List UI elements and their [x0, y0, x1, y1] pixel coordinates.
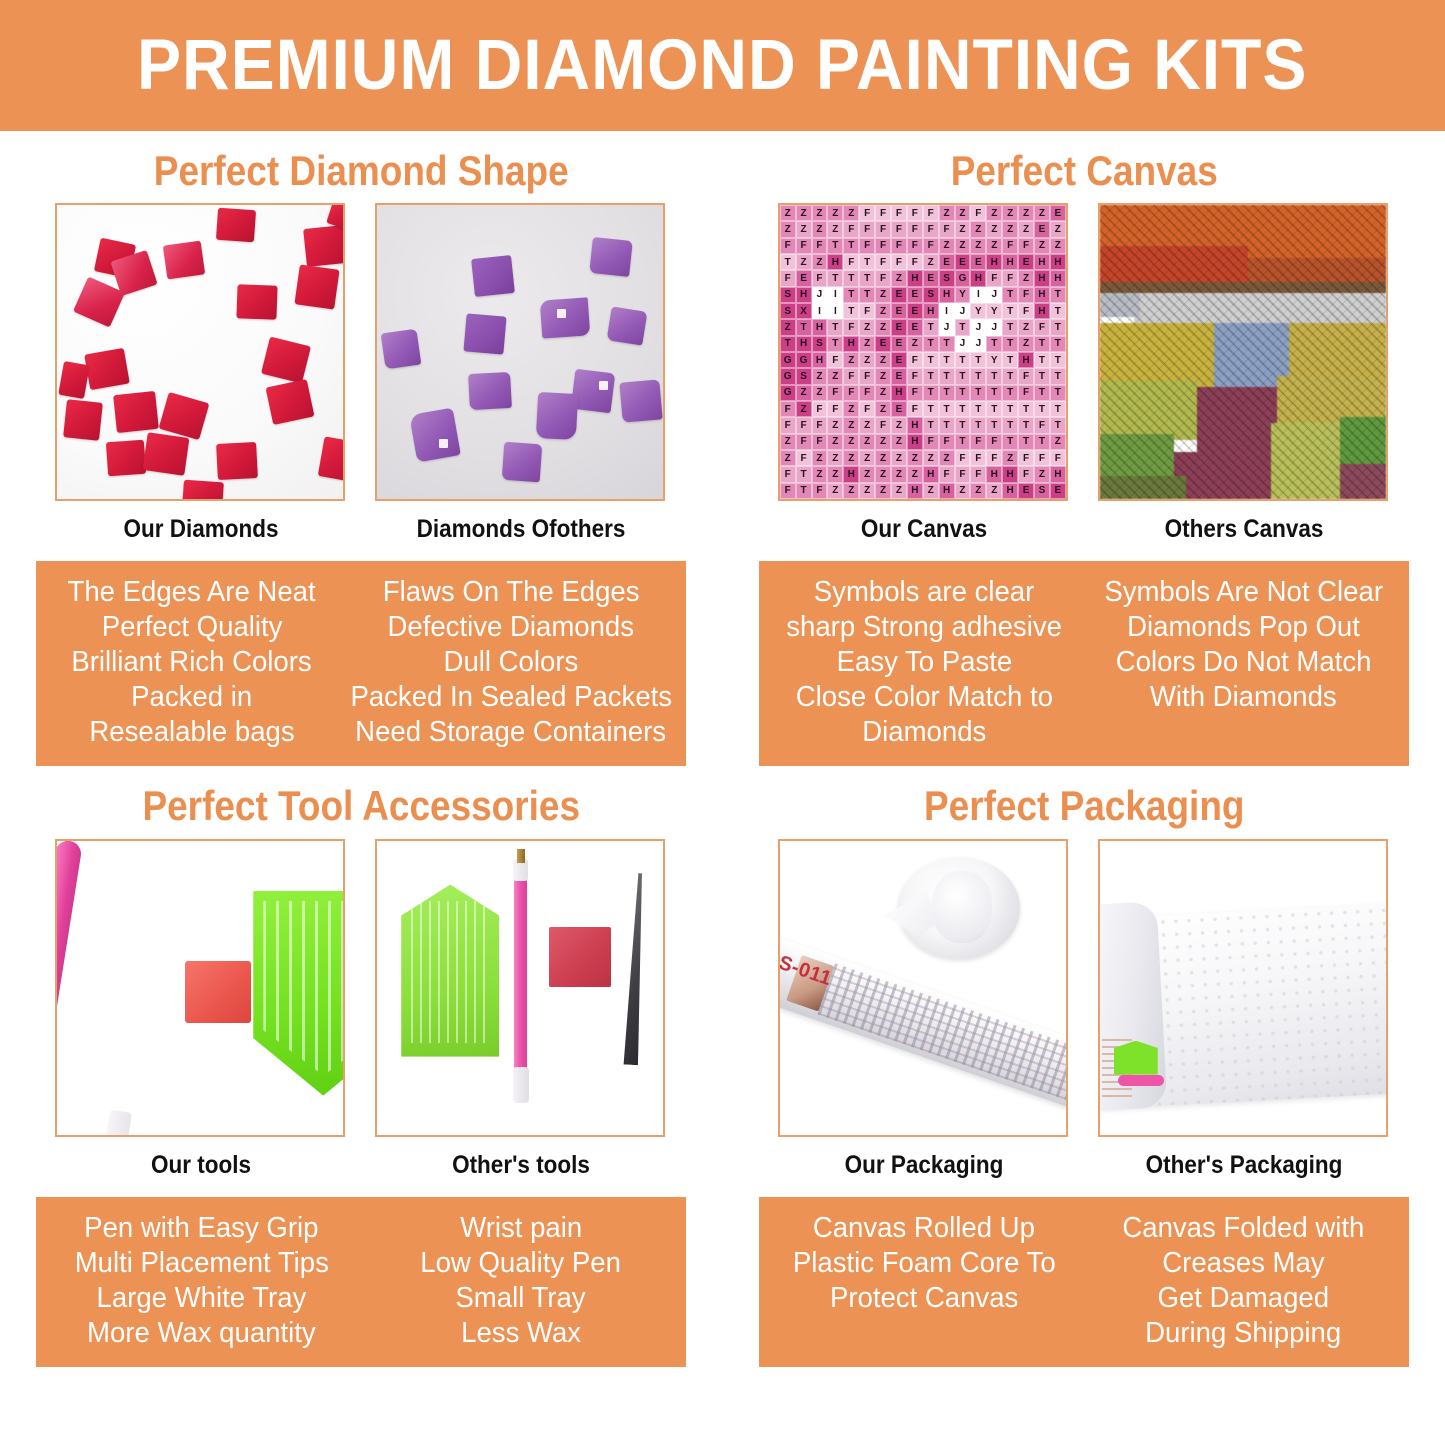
canvas-symbol-cell: T: [1050, 385, 1066, 401]
canvas-symbol-cell: S: [939, 270, 955, 286]
canvas-symbol-cell: Z: [812, 450, 828, 466]
section-row-top: Perfect Diamond Shape: [0, 131, 1445, 766]
canvas-symbol-cell: H: [1034, 270, 1050, 286]
diamond-drill: [607, 306, 648, 345]
bullets-ours: Canvas Rolled Up Plastic Foam Core To Pr…: [765, 1211, 1084, 1351]
canvas-symbol-cell: H: [1050, 254, 1066, 270]
canvas-symbol-cell: F: [1034, 450, 1050, 466]
canvas-symbol-cell: Z: [843, 417, 859, 433]
canvas-symbol-cell: Z: [986, 238, 1002, 254]
canvas-symbol-cell: Z: [907, 450, 923, 466]
canvas-symbol-cell: H: [907, 483, 923, 499]
tube-label-code: SS-011: [778, 947, 835, 991]
photo-block-others-tools: Other's tools: [375, 839, 667, 1180]
bullet-line: Close Color Match to: [796, 680, 1053, 715]
canvas-symbol-cell: Z: [907, 466, 923, 482]
photo-block-our-diamonds: Our Diamonds: [55, 203, 347, 544]
diamond-facet-highlight: [557, 309, 566, 318]
canvas-symbol-cell: I: [970, 287, 986, 303]
canvas-symbol-cell: Z: [843, 483, 859, 499]
canvas-symbol-cell: T: [955, 434, 971, 450]
canvas-symbol-cell: E: [796, 270, 812, 286]
canvas-symbol-cell: E: [970, 254, 986, 270]
canvas-symbol-cell: T: [1018, 434, 1034, 450]
diamond-drill: [237, 284, 278, 319]
bullet-line: Creases May: [1162, 1246, 1324, 1281]
canvas-symbol-cell: I: [812, 303, 828, 319]
caption-others-packaging: Other's Packaging: [1112, 1151, 1375, 1180]
canvas-symbol-cell: Z: [1002, 450, 1018, 466]
canvas-symbol-cell: F: [1034, 319, 1050, 335]
canvas-symbol-cell: F: [812, 434, 828, 450]
canvas-symbol-cell: F: [907, 352, 923, 368]
bullet-line: More Wax quantity: [87, 1316, 316, 1351]
canvas-symbol-cell: T: [1018, 401, 1034, 417]
canvas-symbol-cell: F: [859, 368, 875, 384]
canvas-symbol-cell: E: [1018, 254, 1034, 270]
canvas-symbol-cell: I: [827, 287, 843, 303]
canvas-symbol-cell: F: [796, 434, 812, 450]
drill-pen-icon: [55, 839, 83, 1108]
drill-pen-icon: [514, 875, 527, 1080]
bullet-line: Multi Placement Tips: [75, 1246, 329, 1281]
canvas-symbol-cell: E: [891, 319, 907, 335]
bullets-ours: Symbols are clear sharp Strong adhesive …: [765, 575, 1084, 750]
canvas-symbol-cell: Z: [986, 205, 1002, 221]
canvas-symbol-cell: Z: [827, 417, 843, 433]
canvas-symbol-cell: Z: [939, 450, 955, 466]
canvas-symbol-cell: Z: [1018, 221, 1034, 237]
canvas-symbol-cell: F: [907, 254, 923, 270]
canvas-symbol-cell: H: [812, 352, 828, 368]
diamond-drill: [163, 241, 205, 280]
canvas-symbol-cell: T: [1002, 352, 1018, 368]
canvas-symbol-cell: F: [939, 434, 955, 450]
diamond-drill: [303, 225, 345, 267]
canvas-symbol-cell: T: [859, 254, 875, 270]
canvas-symbol-grid: ZZZZZFFFFFZZFZZZZEZZZZFFFFFFFZZZZZEZFFFT…: [780, 205, 1066, 499]
canvas-symbol-cell: F: [843, 368, 859, 384]
canvas-symbol-cell: Z: [891, 450, 907, 466]
canvas-symbol-cell: F: [827, 352, 843, 368]
caption-our-tools: Our tools: [70, 1151, 333, 1180]
bullet-line: Small Tray: [456, 1281, 586, 1316]
bullet-line: Colors Do Not Match: [1115, 645, 1371, 680]
canvas-symbol-cell: T: [970, 401, 986, 417]
canvas-symbol-cell: F: [780, 401, 796, 417]
canvas-symbol-cell: H: [1002, 483, 1018, 499]
canvas-symbol-cell: E: [923, 270, 939, 286]
diamond-drill: [409, 408, 461, 463]
bullets-ours: Pen with Easy Grip Multi Placement Tips …: [42, 1211, 361, 1351]
section-title-tools: Perfect Tool Accessories: [43, 784, 679, 828]
canvas-symbol-cell: Z: [812, 205, 828, 221]
canvas-symbol-cell: F: [1002, 270, 1018, 286]
canvas-symbol-cell: T: [955, 368, 971, 384]
canvas-symbol-cell: Z: [843, 401, 859, 417]
canvas-symbol-cell: Y: [970, 303, 986, 319]
canvas-symbol-cell: Z: [796, 401, 812, 417]
canvas-symbol-cell: F: [812, 270, 828, 286]
pen-grip: [104, 1109, 132, 1136]
canvas-symbol-cell: H: [843, 466, 859, 482]
diamond-drill: [471, 255, 515, 297]
canvas-symbol-cell: H: [1002, 254, 1018, 270]
section-packaging: Perfect Packaging SS-011 Our Packaging: [723, 766, 1445, 1366]
canvas-symbol-cell: Z: [859, 483, 875, 499]
canvas-symbol-cell: T: [939, 352, 955, 368]
canvas-symbol-cell: T: [1050, 319, 1066, 335]
canvas-symbol-cell: T: [955, 385, 971, 401]
bullet-line: Pen with Easy Grip: [85, 1211, 319, 1246]
canvas-symbol-cell: Y: [986, 352, 1002, 368]
canvas-symbol-cell: Z: [1018, 205, 1034, 221]
diamond-drill: [216, 208, 256, 243]
bullet-line: Flaws On The Edges: [383, 575, 640, 610]
canvas-symbol-cell: Z: [859, 417, 875, 433]
canvas-symbol-cell: T: [955, 417, 971, 433]
canvas-symbol-cell: T: [796, 466, 812, 482]
canvas-symbol-cell: T: [1034, 336, 1050, 352]
bullet-line: sharp Strong adhesive: [786, 610, 1062, 645]
canvas-symbol-cell: H: [986, 466, 1002, 482]
photo-block-our-tools: Our tools: [55, 839, 347, 1180]
canvas-symbol-cell: H: [907, 270, 923, 286]
canvas-symbol-cell: F: [1018, 466, 1034, 482]
bullet-line: Need Storage Containers: [356, 715, 667, 750]
diamond-facet-highlight: [439, 439, 448, 448]
bullet-line: During Shipping: [1145, 1316, 1341, 1351]
canvas-symbol-cell: T: [923, 319, 939, 335]
canvas-symbol-cell: F: [859, 238, 875, 254]
canvas-symbol-cell: H: [1050, 270, 1066, 286]
canvas-symbol-cell: Z: [970, 221, 986, 237]
canvas-symbol-cell: J: [955, 303, 971, 319]
bullet-line: Canvas Rolled Up: [813, 1211, 1035, 1246]
canvas-symbol-cell: Z: [875, 466, 891, 482]
canvas-symbol-cell: T: [939, 385, 955, 401]
canvas-symbol-cell: Z: [780, 221, 796, 237]
canvas-symbol-cell: Z: [923, 254, 939, 270]
canvas-symbol-cell: X: [796, 303, 812, 319]
bullet-line: Packed In Sealed Packets: [350, 680, 672, 715]
bullets-others: Canvas Folded with Creases May Get Damag…: [1084, 1211, 1403, 1351]
canvas-symbol-cell: G: [796, 352, 812, 368]
canvas-symbol-cell: F: [859, 385, 875, 401]
canvas-symbol-cell: F: [891, 205, 907, 221]
bullet-line: Wrist pain: [460, 1211, 582, 1246]
canvas-symbol-cell: T: [1002, 401, 1018, 417]
canvas-symbol-cell: H: [1034, 303, 1050, 319]
canvas-symbol-cell: Z: [780, 319, 796, 335]
canvas-symbol-cell: T: [827, 336, 843, 352]
bullet-line: Get Damaged: [1157, 1281, 1329, 1316]
diamond-drill: [295, 265, 340, 310]
section-title-packaging: Perfect Packaging: [766, 784, 1402, 828]
canvas-symbol-cell: H: [1034, 287, 1050, 303]
caption-others-canvas: Others Canvas: [1112, 515, 1375, 544]
canvas-symbol-cell: T: [1002, 385, 1018, 401]
section-diamond-shape: Perfect Diamond Shape: [0, 131, 723, 766]
canvas-symbol-cell: H: [843, 336, 859, 352]
diamond-drill: [536, 392, 578, 440]
canvas-symbol-cell: F: [843, 319, 859, 335]
canvas-symbol-cell: T: [1018, 417, 1034, 433]
caption-our-canvas: Our Canvas: [792, 515, 1055, 544]
canvas-symbol-cell: Z: [796, 385, 812, 401]
diamond-drill: [182, 480, 224, 501]
canvas-symbol-cell: T: [955, 319, 971, 335]
page-header: PREMIUM DIAMOND PAINTING KITS: [0, 0, 1445, 131]
photo-pair-packaging: SS-011 Our Packaging: [723, 839, 1445, 1180]
canvas-symbol-cell: T: [923, 385, 939, 401]
canvas-symbol-cell: T: [923, 336, 939, 352]
canvas-symbol-cell: H: [907, 434, 923, 450]
canvas-symbol-cell: F: [907, 368, 923, 384]
canvas-symbol-cell: Z: [780, 205, 796, 221]
canvas-symbol-cell: F: [970, 450, 986, 466]
bullet-line: Diamonds: [862, 715, 986, 750]
canvas-symbol-cell: F: [843, 254, 859, 270]
bullet-line: With Diamonds: [1150, 680, 1337, 715]
canvas-symbol-cell: T: [1050, 352, 1066, 368]
canvas-symbol-cell: F: [812, 417, 828, 433]
bullets-canvas: Symbols are clear sharp Strong adhesive …: [759, 561, 1409, 766]
canvas-symbol-cell: Z: [1002, 205, 1018, 221]
canvas-symbol-cell: H: [923, 303, 939, 319]
canvas-symbol-cell: J: [970, 319, 986, 335]
canvas-symbol-cell: F: [780, 483, 796, 499]
canvas-symbol-cell: T: [939, 368, 955, 384]
canvas-symbol-cell: F: [986, 434, 1002, 450]
canvas-symbol-cell: Z: [812, 254, 828, 270]
canvas-symbol-cell: F: [1002, 238, 1018, 254]
photo-our-canvas: ZZZZZFFFFFZZFZZZZEZZZZFFFFFFFZZZZZEZFFFT…: [778, 203, 1068, 501]
canvas-symbol-cell: E: [907, 287, 923, 303]
canvas-symbol-cell: Z: [1018, 336, 1034, 352]
canvas-symbol-cell: S: [1034, 483, 1050, 499]
canvas-symbol-cell: T: [827, 270, 843, 286]
canvas-symbol-cell: Z: [875, 368, 891, 384]
canvas-symbol-cell: T: [843, 287, 859, 303]
canvas-symbol-cell: G: [780, 385, 796, 401]
canvas-symbol-cell: J: [955, 336, 971, 352]
canvas-symbol-cell: S: [923, 287, 939, 303]
diamond-drill: [113, 391, 159, 433]
canvas-symbol-cell: T: [780, 336, 796, 352]
canvas-symbol-cell: Z: [859, 352, 875, 368]
canvas-symbol-cell: Z: [986, 483, 1002, 499]
canvas-symbol-cell: F: [986, 270, 1002, 286]
bullets-diamond-shape: The Edges Are Neat Perfect Quality Brill…: [36, 561, 686, 766]
canvas-symbol-cell: E: [891, 303, 907, 319]
canvas-symbol-cell: Z: [923, 483, 939, 499]
caption-our-diamonds: Our Diamonds: [70, 515, 333, 544]
canvas-symbol-cell: H: [1002, 466, 1018, 482]
bullet-line: The Edges Are Neat: [68, 575, 316, 610]
canvas-noise-overlay: [1100, 205, 1386, 499]
canvas-symbol-cell: F: [780, 238, 796, 254]
canvas-symbol-cell: T: [1002, 319, 1018, 335]
bullet-line: Easy To Paste: [836, 645, 1012, 680]
canvas-symbol-cell: H: [970, 270, 986, 286]
canvas-symbol-cell: T: [1002, 417, 1018, 433]
canvas-symbol-cell: E: [907, 319, 923, 335]
section-title-canvas: Perfect Canvas: [766, 149, 1402, 193]
canvas-symbol-cell: Z: [1050, 434, 1066, 450]
canvas-symbol-cell: J: [986, 287, 1002, 303]
canvas-symbol-cell: Z: [1018, 319, 1034, 335]
photo-block-our-packaging: SS-011 Our Packaging: [778, 839, 1070, 1180]
canvas-symbol-cell: F: [796, 417, 812, 433]
canvas-symbol-cell: Z: [891, 270, 907, 286]
canvas-symbol-cell: F: [796, 238, 812, 254]
canvas-symbol-cell: T: [843, 303, 859, 319]
canvas-symbol-cell: T: [1034, 385, 1050, 401]
diamond-drill: [63, 399, 103, 441]
photo-block-our-canvas: ZZZZZFFFFFZZFZZZZEZZZZFFFFFFFZZZZZEZFFFT…: [778, 203, 1070, 544]
photo-our-packaging: SS-011: [778, 839, 1068, 1137]
canvas-symbol-cell: H: [986, 254, 1002, 270]
canvas-symbol-cell: F: [875, 417, 891, 433]
canvas-symbol-cell: T: [1002, 434, 1018, 450]
canvas-symbol-cell: T: [1050, 368, 1066, 384]
canvas-symbol-cell: Z: [812, 221, 828, 237]
canvas-symbol-cell: T: [923, 352, 939, 368]
diamond-drill: [464, 313, 507, 354]
canvas-symbol-cell: E: [891, 352, 907, 368]
canvas-symbol-cell: E: [1034, 221, 1050, 237]
canvas-symbol-cell: H: [939, 287, 955, 303]
canvas-symbol-cell: Y: [986, 303, 1002, 319]
canvas-symbol-cell: F: [939, 221, 955, 237]
canvas-symbol-cell: Z: [939, 238, 955, 254]
canvas-symbol-cell: F: [827, 385, 843, 401]
canvas-symbol-cell: Z: [843, 205, 859, 221]
canvas-symbol-cell: Z: [875, 287, 891, 303]
bullet-line: Less Wax: [461, 1316, 581, 1351]
diamond-drill: [620, 379, 663, 422]
canvas-symbol-cell: T: [1034, 368, 1050, 384]
canvas-symbol-cell: F: [843, 221, 859, 237]
canvas-symbol-cell: F: [812, 401, 828, 417]
canvas-symbol-cell: F: [923, 238, 939, 254]
diamond-drill: [106, 440, 146, 477]
canvas-symbol-cell: T: [986, 401, 1002, 417]
canvas-symbol-cell: Z: [907, 336, 923, 352]
bullet-line: Low Quality Pen: [420, 1246, 621, 1281]
tray-grooves: [411, 901, 489, 1043]
canvas-symbol-cell: Z: [827, 434, 843, 450]
photo-others-diamonds: [375, 203, 665, 501]
bullet-line: Perfect Quality: [102, 610, 283, 645]
canvas-symbol-cell: T: [986, 417, 1002, 433]
canvas-symbol-cell: T: [986, 336, 1002, 352]
wax-square: [185, 961, 251, 1023]
canvas-symbol-cell: H: [939, 483, 955, 499]
mailer-contents: [1102, 1037, 1176, 1099]
canvas-symbol-cell: Z: [923, 450, 939, 466]
diamond-drill: [216, 442, 258, 480]
canvas-symbol-cell: Z: [875, 483, 891, 499]
canvas-symbol-cell: Z: [1034, 205, 1050, 221]
canvas-symbol-cell: F: [923, 221, 939, 237]
canvas-symbol-cell: Z: [796, 254, 812, 270]
canvas-symbol-cell: F: [907, 221, 923, 237]
canvas-symbol-cell: Z: [875, 450, 891, 466]
section-row-bottom: Perfect Tool Accessories Our tools: [0, 766, 1445, 1366]
canvas-symbol-cell: Z: [955, 221, 971, 237]
canvas-symbol-cell: Z: [1050, 221, 1066, 237]
photo-others-packaging: [1098, 839, 1388, 1137]
bullet-line: Dull Colors: [444, 645, 579, 680]
canvas-symbol-cell: Z: [859, 450, 875, 466]
canvas-symbol-cell: Z: [796, 205, 812, 221]
canvas-symbol-cell: S: [796, 368, 812, 384]
bullet-line: Defective Diamonds: [388, 610, 635, 645]
canvas-symbol-cell: F: [1018, 303, 1034, 319]
canvas-symbol-cell: F: [970, 466, 986, 482]
canvas-symbol-cell: F: [875, 254, 891, 270]
bullets-others: Flaws On The Edges Defective Diamonds Du…: [342, 575, 681, 750]
section-title-diamond-shape: Perfect Diamond Shape: [43, 149, 679, 193]
canvas-symbol-cell: T: [780, 254, 796, 270]
diamond-drill: [468, 372, 512, 410]
pen-end-cap: [513, 1067, 529, 1103]
canvas-symbol-cell: T: [1002, 287, 1018, 303]
wax-square: [549, 927, 611, 987]
canvas-symbol-cell: J: [812, 287, 828, 303]
bullets-others: Symbols Are Not Clear Diamonds Pop Out C…: [1084, 575, 1403, 750]
canvas-symbol-cell: F: [875, 238, 891, 254]
canvas-symbol-cell: T: [923, 368, 939, 384]
canvas-symbol-cell: T: [939, 401, 955, 417]
canvas-symbol-cell: F: [812, 238, 828, 254]
canvas-symbol-cell: H: [1018, 352, 1034, 368]
canvas-symbol-cell: E: [907, 303, 923, 319]
canvas-symbol-cell: F: [1018, 450, 1034, 466]
canvas-symbol-cell: T: [955, 401, 971, 417]
canvas-symbol-cell: F: [907, 205, 923, 221]
canvas-symbol-cell: Z: [891, 483, 907, 499]
canvas-symbol-cell: E: [955, 254, 971, 270]
canvas-symbol-cell: J: [939, 319, 955, 335]
canvas-symbol-cell: T: [955, 352, 971, 368]
photo-block-others-packaging: Other's Packaging: [1098, 839, 1390, 1180]
canvas-symbol-cell: E: [1050, 205, 1066, 221]
canvas-symbol-cell: Z: [891, 466, 907, 482]
canvas-symbol-cell: E: [875, 336, 891, 352]
canvas-symbol-cell: Z: [859, 434, 875, 450]
canvas-symbol-cell: T: [1034, 352, 1050, 368]
canvas-symbol-cell: Z: [1002, 221, 1018, 237]
canvas-symbol-cell: T: [923, 417, 939, 433]
canvas-symbol-cell: F: [780, 270, 796, 286]
canvas-symbol-cell: E: [891, 287, 907, 303]
canvas-symbol-cell: F: [923, 434, 939, 450]
canvas-symbol-cell: I: [827, 303, 843, 319]
canvas-symbol-cell: H: [1050, 466, 1066, 482]
canvas-symbol-cell: F: [970, 205, 986, 221]
canvas-symbol-cell: Z: [939, 205, 955, 221]
canvas-symbol-cell: Z: [859, 466, 875, 482]
bullet-line: Packed in: [131, 680, 252, 715]
canvas-symbol-cell: S: [812, 336, 828, 352]
canvas-symbol-cell: H: [1034, 254, 1050, 270]
canvas-symbol-cell: T: [796, 483, 812, 499]
canvas-symbol-cell: Z: [780, 434, 796, 450]
canvas-symbol-cell: T: [986, 368, 1002, 384]
